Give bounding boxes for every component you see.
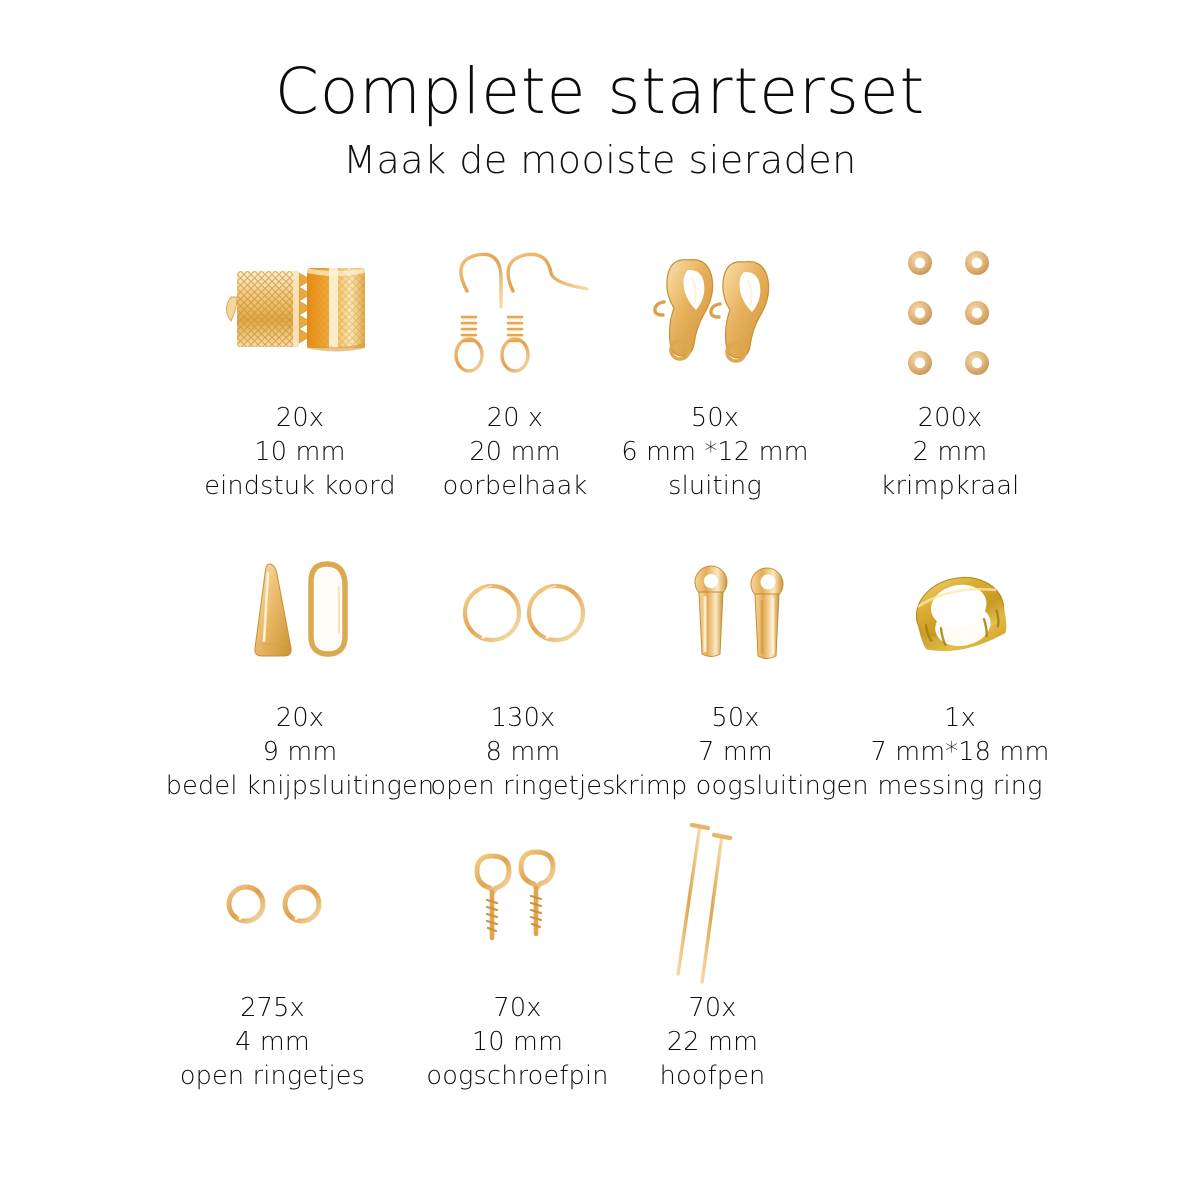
- product-item-hoofpen: 70x 22 mm hoofpen: [615, 820, 810, 1093]
- product-caption: 70x 10 mm oogschroefpin: [405, 991, 630, 1093]
- product-caption: 20 x 20 mm oorbelhaak: [400, 401, 630, 503]
- crimp-cord-end-icon: [613, 530, 858, 695]
- product-grid: 20x 10 mm eindstuk koord: [0, 230, 1200, 1110]
- product-size: 4 mm: [160, 1025, 385, 1059]
- lobster-clasp-icon: [615, 230, 815, 395]
- product-infographic: Complete starterset Maak de mooiste sier…: [0, 0, 1200, 1200]
- product-name: bedel knijpsluitingen: [165, 769, 435, 803]
- product-item-oorbelhaak: 20 x 20 mm oorbelhaak: [400, 230, 630, 503]
- product-caption: 50x 7 mm krimp oogsluitingen: [613, 701, 858, 803]
- product-caption: 20x 9 mm bedel knijpsluitingen: [165, 701, 435, 803]
- crimp-bead-icon: [840, 230, 1060, 395]
- product-item-krimpkraal: 200x 2 mm krimpkraal: [840, 230, 1060, 503]
- product-row-3: 275x 4 mm open ringetjes: [0, 820, 1200, 1110]
- header: Complete starterset Maak de mooiste sier…: [0, 0, 1200, 182]
- product-caption: 1x 7 mm*18 mm messing ring: [855, 701, 1065, 803]
- earring-hook-icon: [400, 230, 630, 395]
- product-name: open ringetjes: [160, 1059, 385, 1093]
- product-size: 9 mm: [165, 735, 435, 769]
- product-item-oogschroefpin: 70x 10 mm oogschroefpin: [405, 820, 630, 1093]
- product-item-open-ringetjes-8mm: 130x 8 mm open ringetjes: [428, 530, 618, 803]
- product-caption: 200x 2 mm krimpkraal: [840, 401, 1060, 503]
- product-row-1: 20x 10 mm eindstuk koord: [0, 230, 1200, 530]
- product-quantity: 50x: [613, 701, 858, 735]
- product-caption: 20x 10 mm eindstuk koord: [160, 401, 440, 503]
- product-quantity: 50x: [615, 401, 815, 435]
- product-quantity: 20x: [165, 701, 435, 735]
- pinch-bail-icon: [165, 530, 435, 695]
- ribbon-crimp-end-icon: [160, 230, 440, 395]
- product-size: 7 mm*18 mm: [855, 735, 1065, 769]
- product-quantity: 200x: [840, 401, 1060, 435]
- product-size: 10 mm: [405, 1025, 630, 1059]
- product-name: eindstuk koord: [160, 469, 440, 503]
- product-size: 7 mm: [613, 735, 858, 769]
- product-name: oogschroefpin: [405, 1059, 630, 1093]
- product-item-messing-ring: 1x 7 mm*18 mm messing ring: [855, 530, 1065, 803]
- small-open-jump-ring-icon: [160, 820, 385, 985]
- product-row-2: 20x 9 mm bedel knijpsluitingen: [0, 530, 1200, 820]
- product-size: 8 mm: [428, 735, 618, 769]
- product-size: 2 mm: [840, 435, 1060, 469]
- product-item-eindstuk-koord: 20x 10 mm eindstuk koord: [160, 230, 440, 503]
- product-size: 10 mm: [160, 435, 440, 469]
- product-caption: 275x 4 mm open ringetjes: [160, 991, 385, 1093]
- product-quantity: 70x: [405, 991, 630, 1025]
- product-quantity: 130x: [428, 701, 618, 735]
- product-item-krimp-oogsluitingen: 50x 7 mm krimp oogsluitingen: [613, 530, 858, 803]
- brass-ring-icon: [855, 530, 1065, 695]
- product-size: 22 mm: [615, 1025, 810, 1059]
- product-quantity: 20x: [160, 401, 440, 435]
- page-title: Complete starterset: [0, 58, 1200, 126]
- product-name: messing ring: [855, 769, 1065, 803]
- product-quantity: 1x: [855, 701, 1065, 735]
- open-jump-ring-icon: [428, 530, 618, 695]
- product-name: sluiting: [615, 469, 815, 503]
- product-item-open-ringetjes-4mm: 275x 4 mm open ringetjes: [160, 820, 385, 1093]
- eye-screw-pin-icon: [405, 820, 630, 985]
- product-name: krimp oogsluitingen: [613, 769, 858, 803]
- product-item-bedel-knijpsluitingen: 20x 9 mm bedel knijpsluitingen: [165, 530, 435, 803]
- product-item-sluiting: 50x 6 mm *12 mm sluiting: [615, 230, 815, 503]
- product-quantity: 20 x: [400, 401, 630, 435]
- product-size: 20 mm: [400, 435, 630, 469]
- product-name: oorbelhaak: [400, 469, 630, 503]
- head-pin-icon: [615, 820, 810, 985]
- product-name: open ringetjes: [428, 769, 618, 803]
- product-name: hoofpen: [615, 1059, 810, 1093]
- product-size: 6 mm *12 mm: [615, 435, 815, 469]
- product-caption: 130x 8 mm open ringetjes: [428, 701, 618, 803]
- product-quantity: 70x: [615, 991, 810, 1025]
- product-quantity: 275x: [160, 991, 385, 1025]
- product-caption: 50x 6 mm *12 mm sluiting: [615, 401, 815, 503]
- product-name: krimpkraal: [840, 469, 1060, 503]
- page-subtitle: Maak de mooiste sieraden: [0, 140, 1200, 182]
- product-caption: 70x 22 mm hoofpen: [615, 991, 810, 1093]
